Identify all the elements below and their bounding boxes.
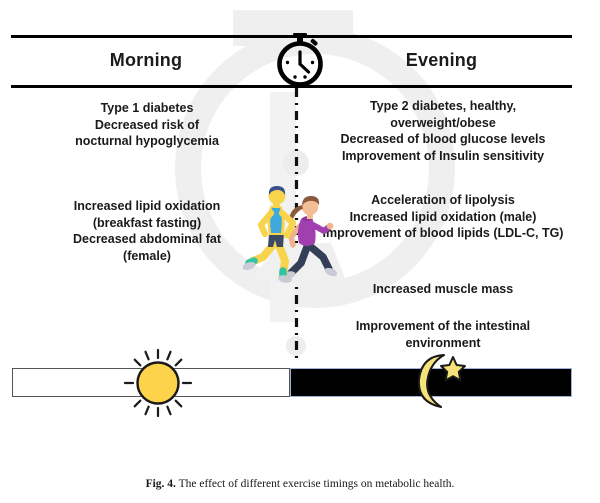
sun-icon xyxy=(123,348,193,418)
day-night-timeline-bar xyxy=(12,368,572,397)
morning-block-1: Type 1 diabetes Decreased risk of noctur… xyxy=(11,100,283,150)
evening-block-1: Type 2 diabetes, healthy, overweight/obe… xyxy=(311,98,575,164)
figure-caption-text: The effect of different exercise timings… xyxy=(179,478,455,490)
column-header-evening: Evening xyxy=(311,50,572,71)
column-header-morning: Morning xyxy=(11,50,281,71)
two-runners-illustration xyxy=(243,183,351,288)
stopwatch-icon xyxy=(274,31,326,87)
figure-caption: Fig. 4. The effect of different exercise… xyxy=(11,478,589,490)
figure-exercise-timing-metabolic-health: Morning Evening Type 1 diabetes Decrease xyxy=(0,0,600,503)
figure-caption-label: Fig. 4. xyxy=(146,478,176,490)
moon-star-icon xyxy=(408,352,472,410)
evening-block-4: Improvement of the intestinal environmen… xyxy=(311,318,575,351)
